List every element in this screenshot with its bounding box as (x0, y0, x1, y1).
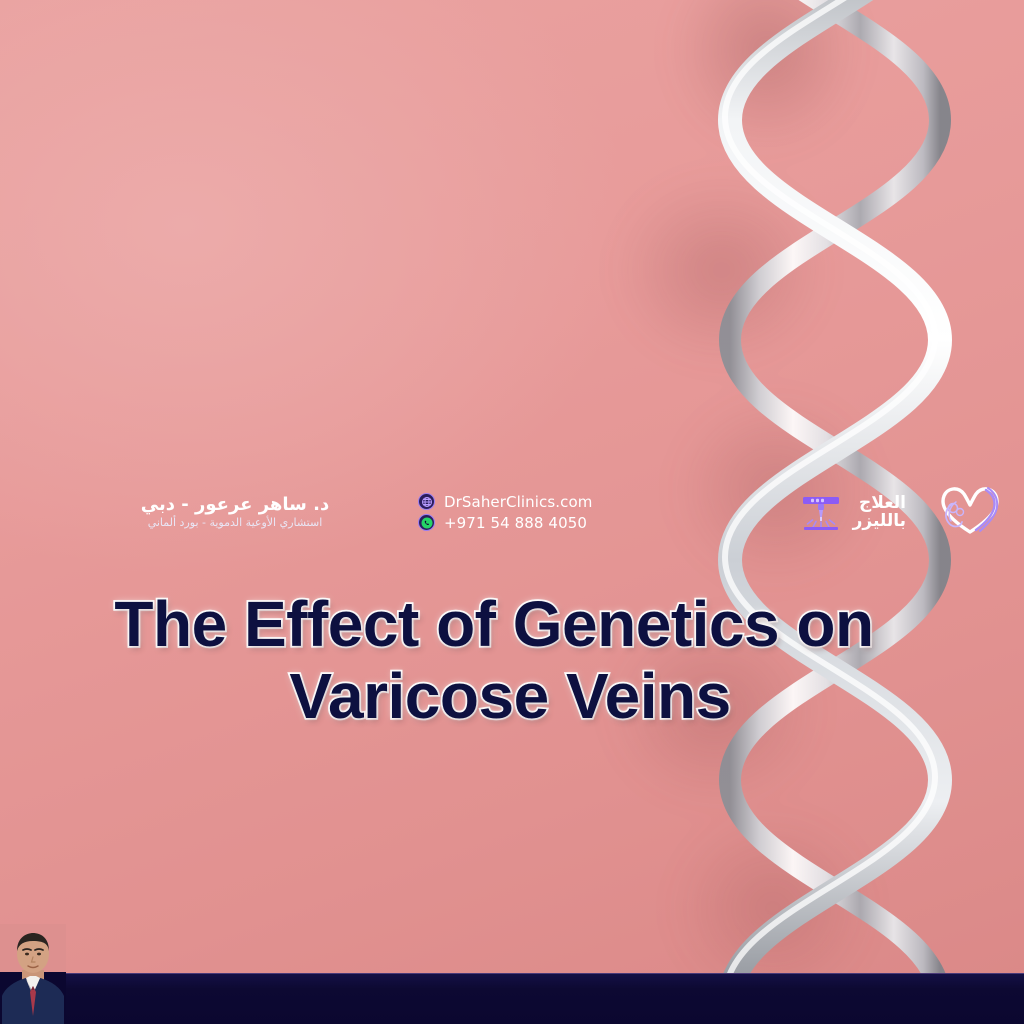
phone-text: +971 54 888 4050 (444, 514, 587, 532)
laser-treatment-block: العلاج بالليزر (798, 492, 906, 532)
globe-icon (418, 493, 435, 510)
banner-canvas: The Effect of Genetics on Varicose Veins (0, 0, 1024, 1024)
doctor-name-arabic: د. ساهر عرعور - دبي (70, 495, 400, 515)
contact-block: DrSaherClinics.com +971 54 888 4050 (418, 493, 688, 532)
whatsapp-icon (418, 514, 435, 531)
website-text: DrSaherClinics.com (444, 493, 592, 511)
laser-line-1: العلاج (859, 493, 906, 513)
website-row[interactable]: DrSaherClinics.com (418, 493, 688, 511)
footer-content: د. ساهر عرعور - دبي استشاري الأوعية الدم… (0, 0, 1024, 1024)
doctor-title-arabic: استشاري الأوعية الدموية - بورد ألماني (70, 516, 400, 530)
laser-line-2: بالليزر (853, 511, 906, 531)
laser-treatment-text: العلاج بالليزر (853, 494, 906, 530)
laser-device-icon (798, 492, 844, 532)
phone-row[interactable]: +971 54 888 4050 (418, 514, 688, 532)
doctor-name-block: د. ساهر عرعور - دبي استشاري الأوعية الدم… (70, 495, 400, 530)
doctor-portrait (0, 924, 66, 1024)
clinic-logo (928, 487, 1020, 538)
